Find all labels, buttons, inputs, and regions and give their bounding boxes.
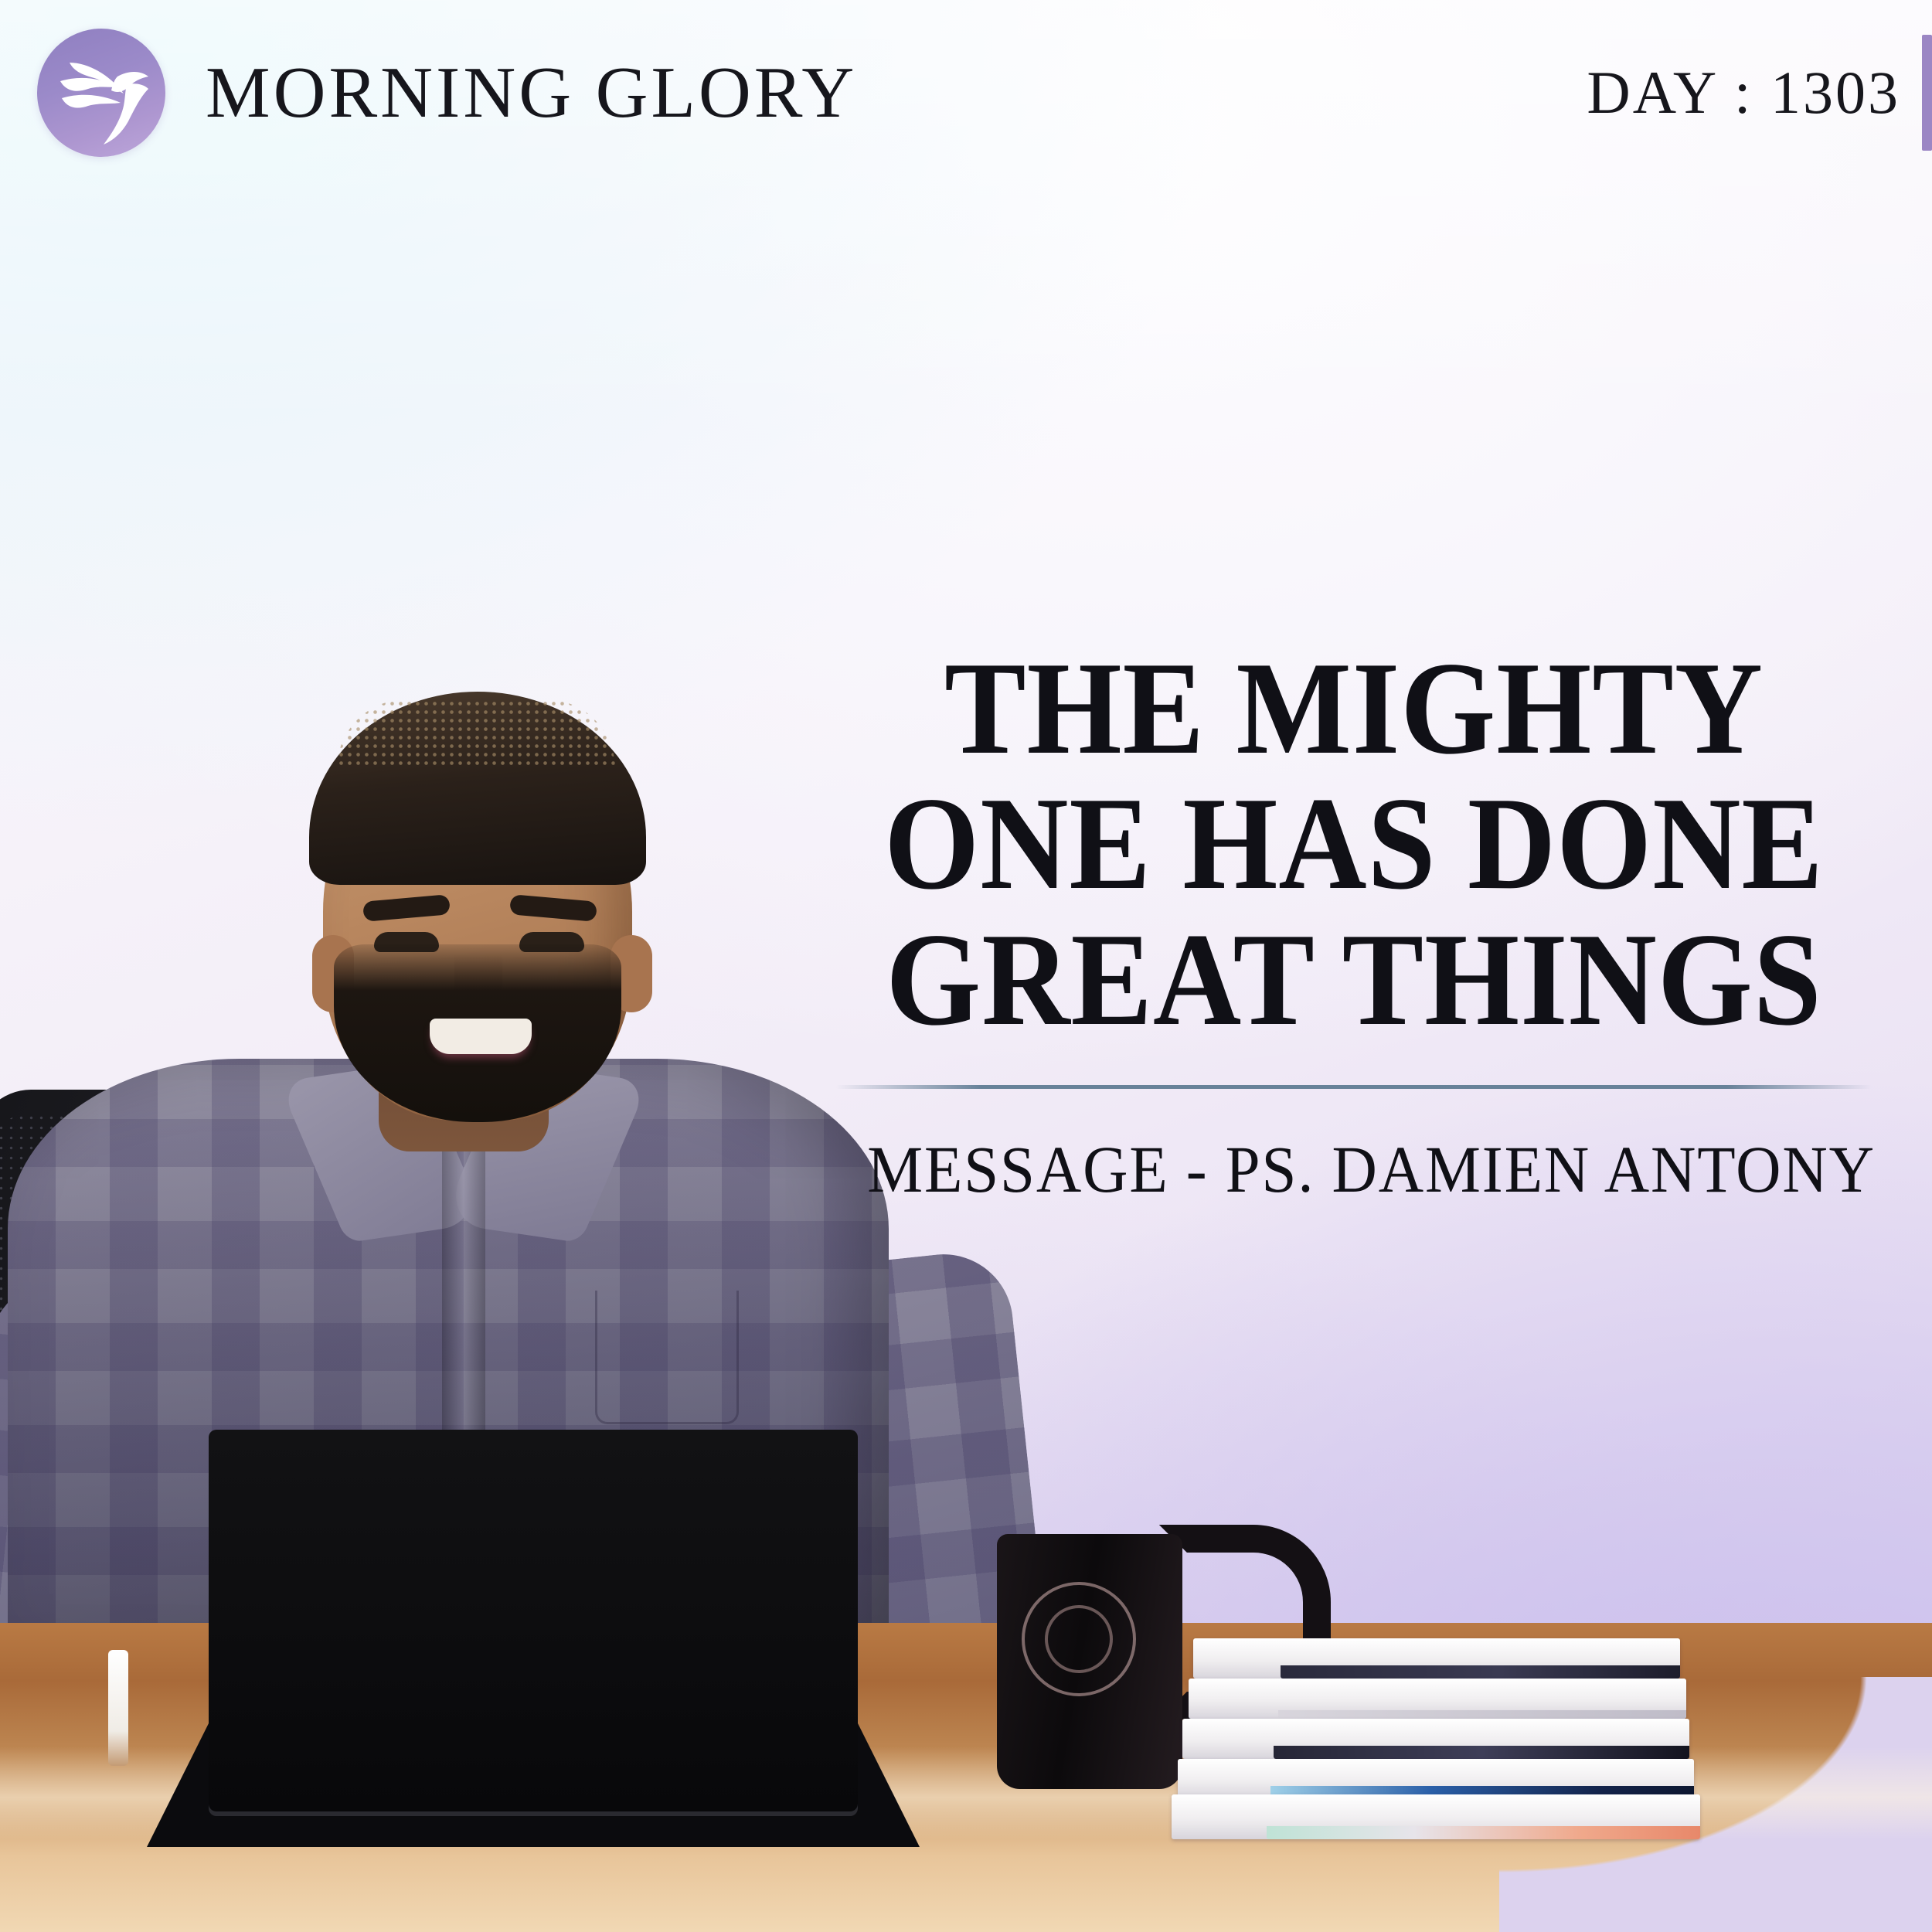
book-item bbox=[1178, 1759, 1694, 1799]
headline: THE MIGHTY ONE HAS DONE GREAT THINGS bbox=[878, 641, 1831, 1048]
header-bar: MORNING GLORY DAY : 1303 bbox=[0, 0, 1932, 185]
book-spine-band bbox=[1278, 1710, 1686, 1719]
accent-bar bbox=[1922, 35, 1932, 151]
pen bbox=[108, 1650, 128, 1766]
dove-logo-icon bbox=[37, 29, 165, 157]
book-spine-band bbox=[1274, 1746, 1689, 1759]
headline-line-2: ONE HAS DONE bbox=[878, 777, 1831, 912]
book-stack bbox=[1182, 1638, 1692, 1839]
book-spine-band bbox=[1281, 1665, 1680, 1679]
book-item bbox=[1193, 1638, 1680, 1679]
poster-canvas: MORNING GLORY DAY : 1303 bbox=[0, 0, 1932, 1932]
divider-rule bbox=[836, 1085, 1872, 1089]
tablet-device bbox=[209, 1430, 858, 1816]
day-counter: DAY : 1303 bbox=[1587, 35, 1932, 151]
day-counter-label: DAY : 1303 bbox=[1587, 63, 1922, 123]
book-item bbox=[1182, 1719, 1689, 1759]
book-spine-band bbox=[1267, 1826, 1700, 1839]
coffee-mug bbox=[997, 1534, 1182, 1789]
brand-lockup: MORNING GLORY bbox=[37, 29, 857, 157]
book-item bbox=[1189, 1679, 1686, 1719]
mug-blessing-logo-icon bbox=[1022, 1582, 1136, 1696]
brand-name: MORNING GLORY bbox=[206, 56, 857, 129]
speaker-hair bbox=[309, 692, 646, 885]
speaker-credit: MESSAGE - PS. DAMIEN ANTONY bbox=[867, 1131, 1841, 1208]
headline-line-1: THE MIGHTY bbox=[878, 641, 1831, 777]
shirt-pocket bbox=[595, 1291, 739, 1424]
book-item bbox=[1172, 1794, 1700, 1839]
headline-line-3: GREAT THINGS bbox=[878, 913, 1831, 1048]
message-block: THE MIGHTY ONE HAS DONE GREAT THINGS MES… bbox=[836, 641, 1872, 1208]
speaker-smile bbox=[430, 1019, 532, 1054]
